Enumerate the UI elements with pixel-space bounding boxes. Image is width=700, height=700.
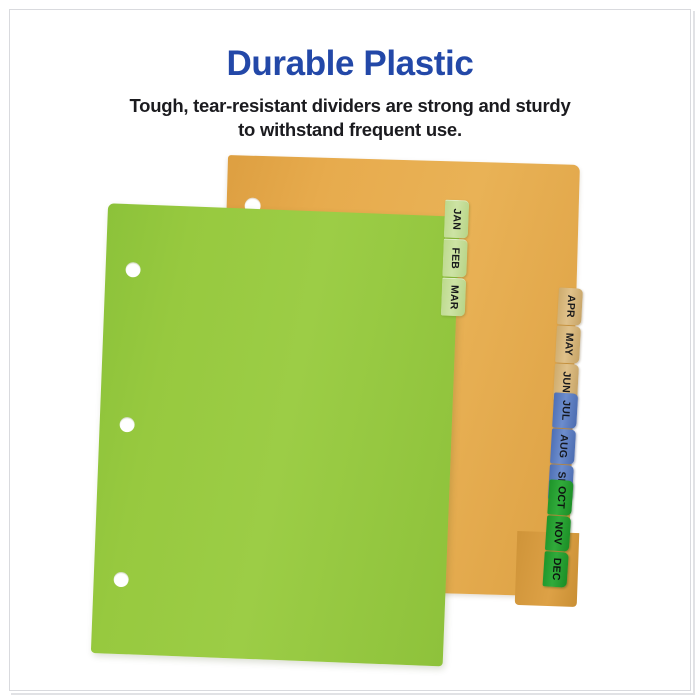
tab-label: OCT (554, 486, 566, 509)
punch-hole (125, 262, 141, 278)
tab-label: APR (564, 295, 576, 318)
punch-hole (119, 417, 135, 433)
tab-oct: OCT (547, 479, 573, 516)
green-divider-sheet (91, 203, 460, 666)
headline-block: Durable Plastic Tough, tear-resistant di… (0, 46, 700, 143)
tab-jul: JUL (552, 392, 578, 428)
tab-label: NOV (552, 521, 564, 545)
subtitle-line-1: Tough, tear-resistant dividers are stron… (129, 95, 570, 116)
tab-label: JUN (560, 371, 572, 393)
tab-label: FEB (449, 248, 460, 270)
page-title: Durable Plastic (0, 46, 700, 83)
tab-feb: FEB (442, 239, 467, 278)
tab-jan: JAN (444, 200, 469, 239)
tab-label: DEC (550, 558, 562, 581)
tab-apr: APR (557, 287, 583, 325)
tab-dec: DEC (543, 551, 569, 588)
tab-aug: AUG (550, 428, 576, 464)
punch-hole (113, 572, 129, 588)
page-subtitle: Tough, tear-resistant dividers are stron… (0, 94, 700, 143)
product-feature-image: Durable Plastic Tough, tear-resistant di… (0, 0, 700, 700)
tab-label: JUL (559, 400, 571, 421)
subtitle-line-2: to withstand frequent use. (0, 118, 700, 143)
tab-label: AUG (557, 434, 569, 459)
tab-label: MAY (562, 333, 574, 357)
tab-label: JAN (451, 209, 462, 231)
tab-mar: MAR (441, 278, 466, 317)
tab-label: MAR (448, 285, 459, 310)
tab-nov: NOV (545, 515, 571, 552)
tab-set-apr-may-jun: APR MAY JUN (553, 287, 583, 402)
product-photo: APR MAY JUN JUL AUG SEP OCT (0, 150, 700, 670)
tab-may: MAY (555, 325, 581, 363)
tab-set-jan-feb-mar: JAN FEB MAR (441, 200, 469, 318)
